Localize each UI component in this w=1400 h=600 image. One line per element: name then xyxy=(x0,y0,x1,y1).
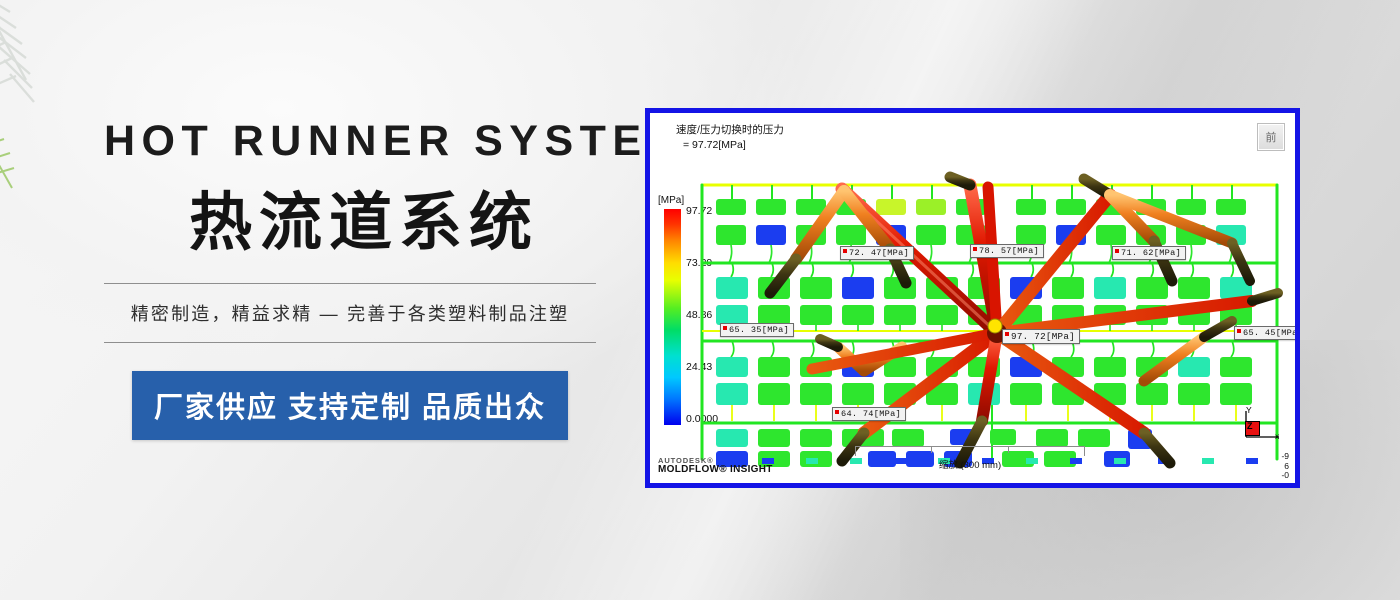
simulation-header-line2: = 97.72[MPa] xyxy=(676,138,784,153)
pressure-callout[interactable]: 64. 74[MPa] xyxy=(832,407,906,421)
hero-subtitle: 精密制造，精益求精 — 完善于各类塑料制品注塑 xyxy=(104,284,596,342)
axis-coordinate-values: -9 6 -0 xyxy=(1281,452,1289,481)
moldflow-insight-label: MOLDFLOW® INSIGHT xyxy=(658,465,773,476)
pressure-callout[interactable]: 72. 47[MPa] xyxy=(840,246,914,260)
promo-badge[interactable]: 厂家供应 支持定制 品质出众 xyxy=(132,371,568,440)
y-axis-label: Y xyxy=(1246,405,1252,415)
pressure-callout[interactable]: 78. 57[MPa] xyxy=(970,244,1044,258)
autodesk-watermark: AUTODESK® MOLDFLOW® INSIGHT xyxy=(658,457,773,475)
moldflow-viewport: 速度/压力切换时的压力 = 97.72[MPa] 前 [MPa] 97.72 7… xyxy=(650,113,1295,483)
mold-layout-graphic xyxy=(692,171,1292,471)
pressure-callout-center[interactable]: 97. 72[MPa] xyxy=(1002,329,1080,344)
scale-bar: 缩放 (300 mm) xyxy=(855,446,1085,471)
axis-value-2: -0 xyxy=(1281,471,1289,481)
pressure-callout[interactable]: 71. 62[MPa] xyxy=(1112,246,1186,260)
legend-unit-label: [MPa] xyxy=(658,195,684,206)
scale-bar-line xyxy=(855,446,1085,456)
view-orientation-button[interactable]: 前 xyxy=(1257,123,1285,151)
hero-text-column: HOT RUNNER SYSTEM 热流道系统 精密制造，精益求精 — 完善于各… xyxy=(104,120,624,440)
z-axis-label: Z xyxy=(1247,421,1253,431)
moldflow-simulation-panel: 速度/压力切换时的压力 = 97.72[MPa] 前 [MPa] 97.72 7… xyxy=(645,108,1300,488)
mold-layout-svg xyxy=(692,171,1292,471)
simulation-header-line1: 速度/压力切换时的压力 xyxy=(676,123,784,138)
hero-banner: HOT RUNNER SYSTEM 热流道系统 精密制造，精益求精 — 完善于各… xyxy=(0,0,1400,600)
page-title-english: HOT RUNNER SYSTEM xyxy=(104,120,624,163)
axis-triad: Z x Y xyxy=(1239,407,1285,449)
legend-color-bar xyxy=(664,209,681,425)
simulation-header: 速度/压力切换时的压力 = 97.72[MPa] xyxy=(676,123,784,153)
pressure-callout[interactable]: 65. 45[MPa] xyxy=(1234,326,1295,340)
scale-bar-label: 缩放 (300 mm) xyxy=(855,457,1085,471)
page-title-chinese: 热流道系统 xyxy=(104,189,624,257)
pressure-callout[interactable]: 65. 35[MPa] xyxy=(720,323,794,337)
x-axis-label: x xyxy=(1275,431,1279,441)
